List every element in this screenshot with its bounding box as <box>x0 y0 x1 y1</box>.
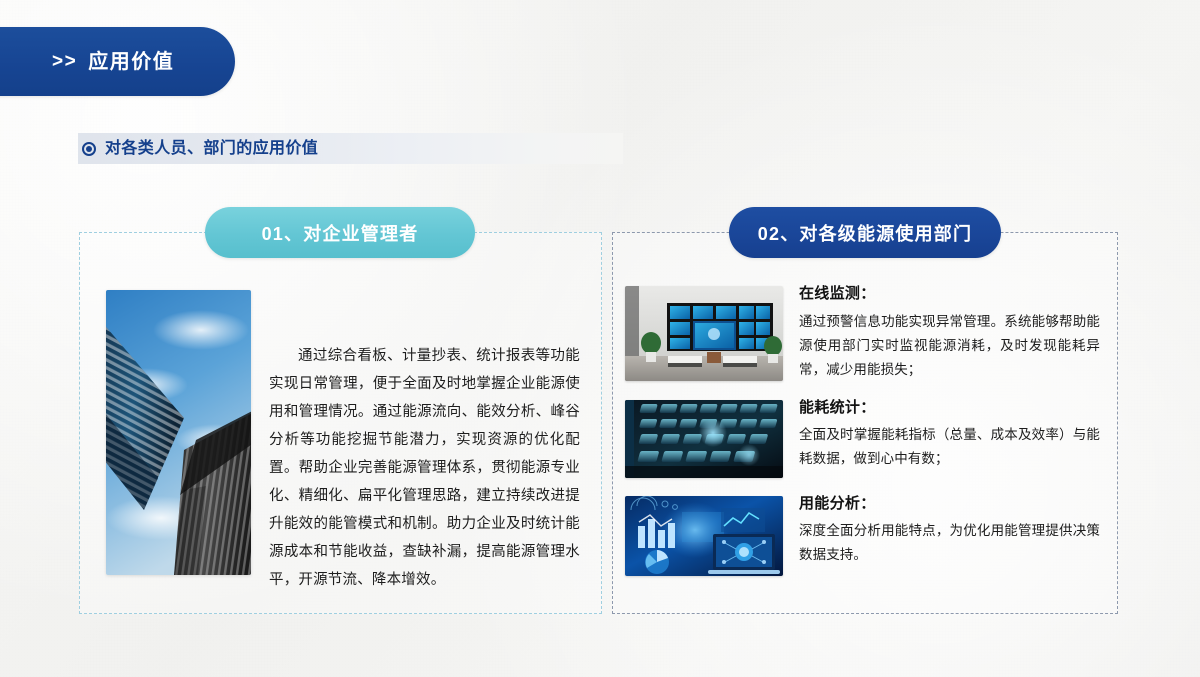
card-enterprise-managers-body: 通过综合看板、计量抄表、统计报表等功能实现日常管理，便于全面及时地掌握企业能源使… <box>79 232 602 614</box>
control-room-video-wall-photo <box>625 286 783 381</box>
skyscraper-photo-art <box>106 290 251 575</box>
list-item: 在线监测： 通过预警信息功能实现异常管理。系统能够帮助能源使用部门实时监视能源消… <box>625 286 1100 382</box>
card-enterprise-managers-title: 01、对企业管理者 <box>205 207 475 258</box>
keyboard-closeup-photo <box>625 400 783 478</box>
data-analytics-dashboard-photo <box>625 496 783 576</box>
page-banner-inner: >> 应用价值 <box>52 52 174 72</box>
list-item-desc: 全面及时掌握能耗指标（总量、成本及效率）与能耗数据，做到心中有数； <box>799 423 1100 471</box>
list-item-text: 在线监测： 通过预警信息功能实现异常管理。系统能够帮助能源使用部门实时监视能源消… <box>799 286 1100 382</box>
list-item-desc: 深度全面分析用能特点，为优化用能管理提供决策数据支持。 <box>799 519 1100 567</box>
list-item-text: 用能分析： 深度全面分析用能特点，为优化用能管理提供决策数据支持。 <box>799 496 1100 568</box>
list-item-title: 用能分析： <box>799 496 1100 513</box>
chevron-double-right-icon: >> <box>52 52 77 71</box>
card-enterprise-managers-text: 通过综合看板、计量抄表、统计报表等功能实现日常管理，便于全面及时地掌握企业能源使… <box>269 290 580 590</box>
section-title: 对各类人员、部门的应用价值 <box>105 141 318 157</box>
list-item: 能耗统计： 全面及时掌握能耗指标（总量、成本及效率）与能耗数据，做到心中有数； <box>625 400 1100 478</box>
target-dot-icon <box>82 142 96 156</box>
list-item-title: 在线监测： <box>799 286 1100 303</box>
control-room-art <box>625 286 783 381</box>
list-item-title: 能耗统计： <box>799 400 1100 417</box>
section-header: 对各类人员、部门的应用价值 <box>78 133 623 164</box>
list-item-text: 能耗统计： 全面及时掌握能耗指标（总量、成本及效率）与能耗数据，做到心中有数； <box>799 400 1100 472</box>
card-energy-departments-title: 02、对各级能源使用部门 <box>729 207 1001 258</box>
card-energy-departments-body: 在线监测： 通过预警信息功能实现异常管理。系统能够帮助能源使用部门实时监视能源消… <box>612 232 1118 614</box>
data-analytics-art <box>625 496 783 576</box>
skyscraper-photo <box>106 290 251 575</box>
keyboard-art <box>625 400 783 478</box>
list-item-desc: 通过预警信息功能实现异常管理。系统能够帮助能源使用部门实时监视能源消耗，及时发现… <box>799 310 1100 382</box>
page-title: 应用价值 <box>88 52 174 72</box>
page-banner: >> 应用价值 <box>0 27 235 96</box>
list-item: 用能分析： 深度全面分析用能特点，为优化用能管理提供决策数据支持。 <box>625 496 1100 576</box>
